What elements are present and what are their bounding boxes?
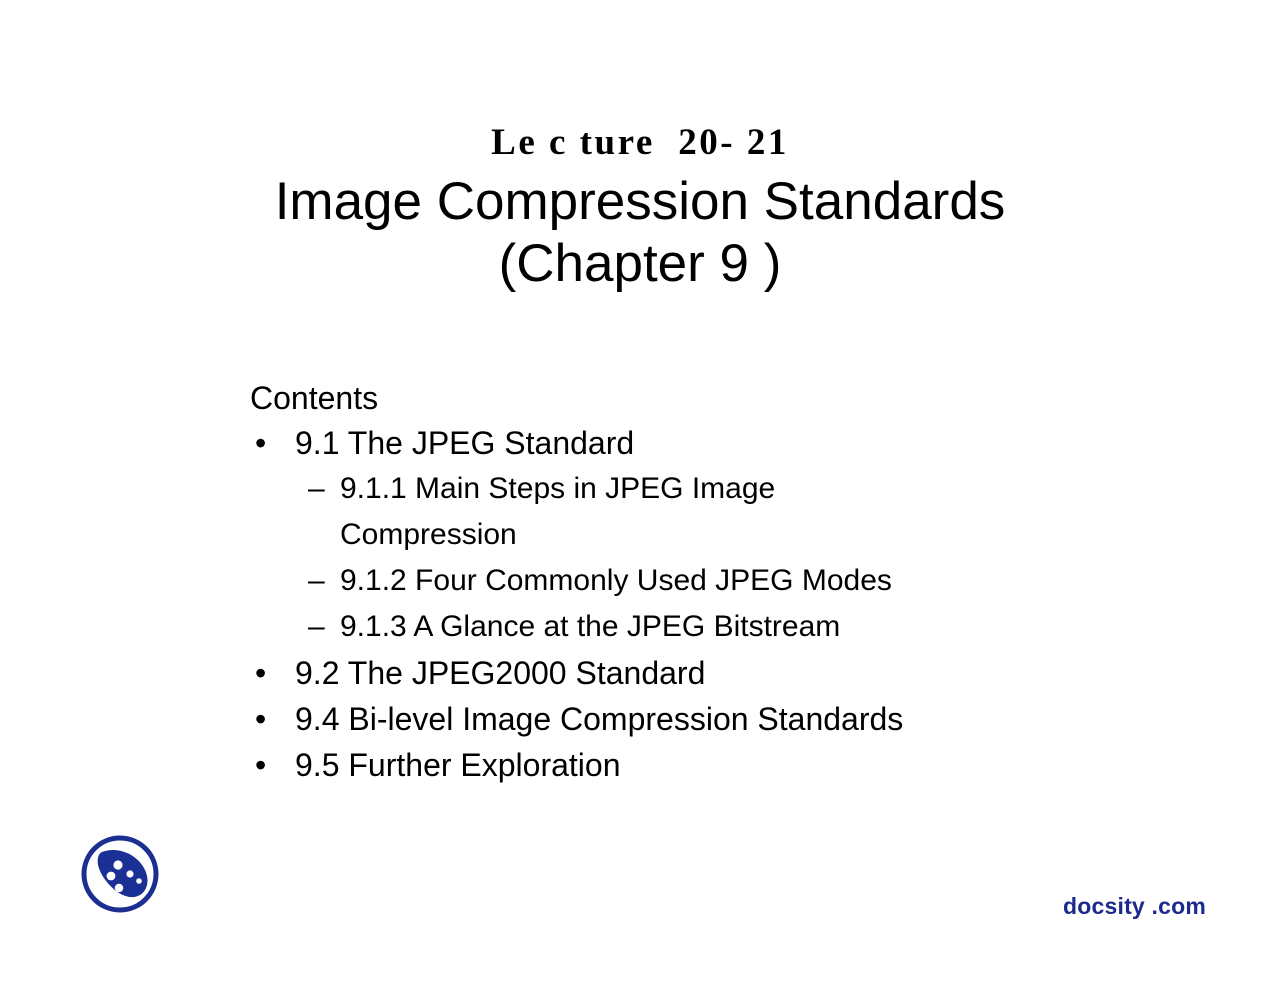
list-item: • 9.2 The JPEG2000 Standard	[250, 650, 1150, 696]
bullet-dash-icon: –	[308, 466, 325, 512]
contents-list: • 9.1 The JPEG Standard – 9.1.1 Main Ste…	[250, 420, 1150, 788]
bullet-dash-icon: –	[308, 558, 325, 604]
bullet-dot-icon: •	[255, 650, 266, 696]
chapter-subtitle: (Chapter 9 )	[0, 233, 1280, 295]
bullet-dot-icon: •	[255, 420, 266, 466]
contents-heading: Contents	[250, 376, 1150, 420]
contents-section: Contents • 9.1 The JPEG Standard – 9.1.1…	[250, 376, 1150, 788]
list-item-label: 9.4 Bi-level Image Compression Standards	[295, 701, 903, 737]
list-item-label: 9.1 The JPEG Standard	[295, 425, 634, 461]
lecture-number-heading: Le c ture 20- 21	[0, 120, 1280, 166]
list-item-label: 9.5 Further Exploration	[295, 747, 621, 783]
bullet-dot-icon: •	[255, 742, 266, 788]
bullet-dot-icon: •	[255, 696, 266, 742]
list-item-label: 9.2 The JPEG2000 Standard	[295, 655, 705, 691]
list-item-label: 9.1.2 Four Commonly Used JPEG Modes	[340, 564, 892, 597]
list-item: • 9.5 Further Exploration	[250, 742, 1150, 788]
docsity-brand-text: docsity .com	[1063, 893, 1206, 920]
list-item-label: 9.1.3 A Glance at the JPEG Bitstream	[340, 610, 840, 643]
list-item-label-continued: Compression	[340, 512, 1150, 558]
slide-canvas: Le c ture 20- 21 Image Compression Stand…	[0, 0, 1280, 989]
list-item-label: 9.1.1 Main Steps in JPEG Image	[340, 472, 775, 505]
list-item: – 9.1.3 A Glance at the JPEG Bitstream	[250, 604, 1150, 650]
list-item: – 9.1.2 Four Commonly Used JPEG Modes	[250, 558, 1150, 604]
slide-title-block: Le c ture 20- 21 Image Compression Stand…	[0, 120, 1280, 295]
list-item: – 9.1.1 Main Steps in JPEG Image Compres…	[250, 466, 1150, 558]
bullet-dash-icon: –	[308, 604, 325, 650]
page-title: Image Compression Standards	[0, 171, 1280, 233]
list-item: • 9.4 Bi-level Image Compression Standar…	[250, 696, 1150, 742]
docsity-logo-icon	[78, 832, 162, 916]
list-item: • 9.1 The JPEG Standard	[250, 420, 1150, 466]
